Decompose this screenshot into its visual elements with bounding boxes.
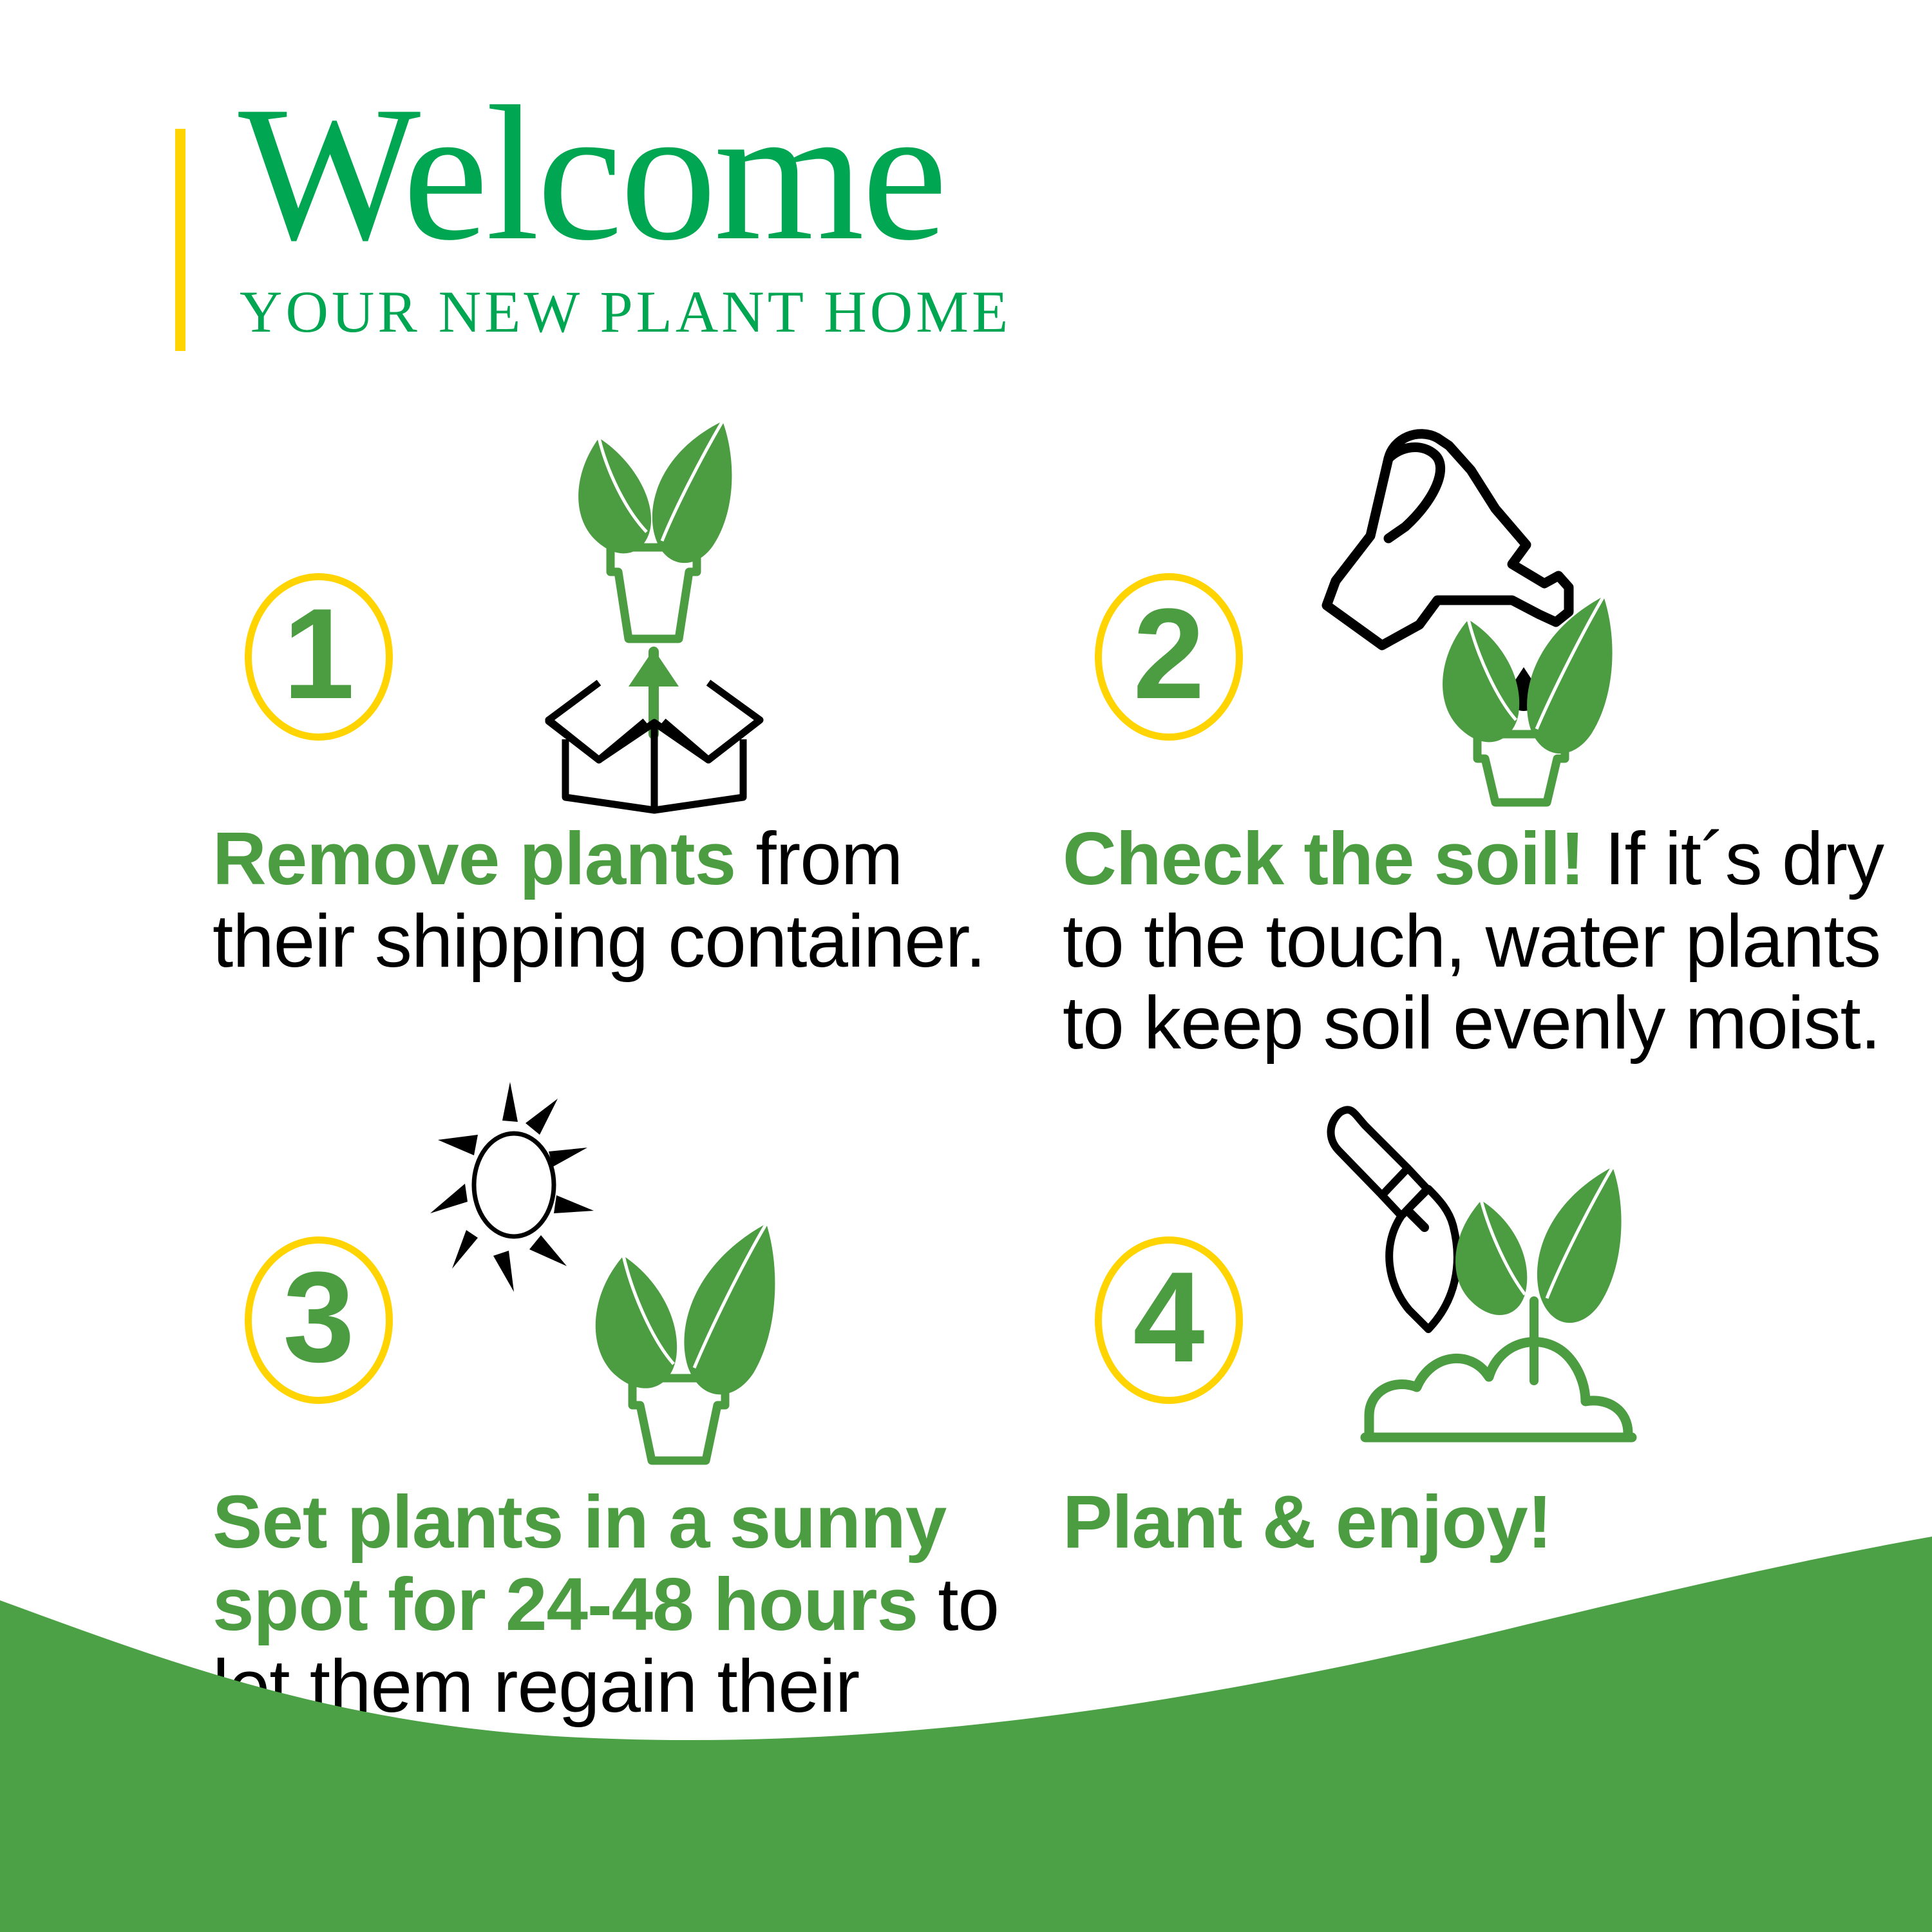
step-number-1: 1 [283,590,354,719]
sun-over-potted-plant-icon [406,1075,882,1475]
step-4-visual: 4 [1063,1075,1835,1475]
step-number-2: 2 [1133,590,1204,719]
watering-can-over-potted-plant-icon [1256,412,1732,811]
step-item-1: 1 [213,412,1127,982]
step-number-badge-2: 2 [1095,573,1243,741]
bottom-green-wave [0,1533,1932,1932]
step-item-2: 2 [1063,412,1932,1065]
page-title: Welcome [238,90,1011,256]
step-number-badge-3: 3 [245,1236,393,1404]
title-block: Welcome YOUR NEW PLANT HOME [238,90,1011,341]
step-number-4: 4 [1133,1253,1204,1382]
header: Welcome YOUR NEW PLANT HOME [0,0,1932,386]
step-number-badge-1: 1 [245,573,393,741]
step-item-4: 4 [1063,1075,1932,1564]
step-2-highlight: Check the soil! [1063,817,1584,900]
step-1-text: Remove plants from their shipping contai… [213,818,1037,982]
step-2-text: Check the soil! If it´s dry to the touch… [1063,818,1887,1065]
poster-canvas: Welcome YOUR NEW PLANT HOME 1 [0,0,1932,1932]
plant-leaving-open-box-icon [406,412,882,811]
step-3-visual: 3 [213,1075,985,1475]
page-subtitle: YOUR NEW PLANT HOME [240,282,1011,341]
step-1-visual: 1 [213,412,985,811]
step-number-3: 3 [283,1253,354,1382]
step-number-badge-4: 4 [1095,1236,1243,1404]
trowel-with-seedling-in-soil-icon [1256,1075,1732,1475]
yellow-accent-bar [175,129,185,351]
step-1-highlight: Remove plants [213,817,735,900]
step-2-visual: 2 [1063,412,1835,811]
